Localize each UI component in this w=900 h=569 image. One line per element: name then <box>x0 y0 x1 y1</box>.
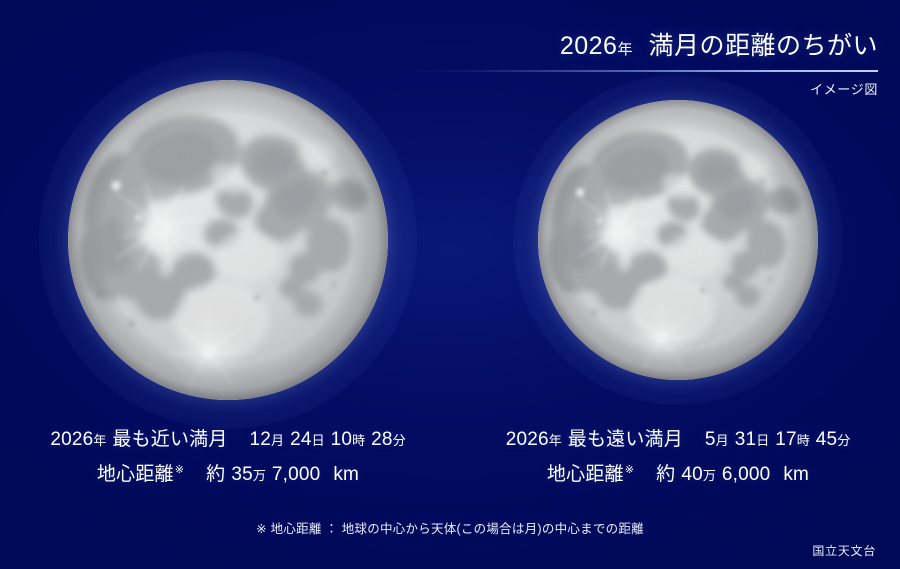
caption-far-moon: 2026年最も遠い満月5月31日17時45分 地心距離※約40万6,000km <box>478 430 878 484</box>
caption-near-day: 24 <box>290 429 312 450</box>
moon-image-near <box>68 80 388 400</box>
caption-far-month-unit: 月 <box>716 433 729 448</box>
caption-far-distance-label: 地心距離 <box>547 464 624 485</box>
caption-far-year: 2026 <box>506 429 549 450</box>
caption-far-hour-unit: 時 <box>797 433 810 448</box>
caption-far-label: 最も遠い満月 <box>568 429 683 450</box>
caption-near-distance-rest: 7,000 <box>272 464 321 485</box>
page-title: 2026年満月の距離のちがい <box>408 26 878 62</box>
moon-surface-near <box>68 80 388 400</box>
caption-far-date-line: 2026年最も遠い満月5月31日17時45分 <box>478 430 878 449</box>
credit: 国立天文台 <box>812 542 876 559</box>
title-block: 2026年満月の距離のちがい イメージ図 <box>408 26 878 98</box>
caption-near-month-unit: 月 <box>271 433 284 448</box>
caption-near-day-unit: 日 <box>312 433 325 448</box>
title-text: 満月の距離のちがい <box>648 32 878 60</box>
caption-near-minute: 28 <box>371 429 393 450</box>
caption-far-day: 31 <box>735 429 757 450</box>
caption-near-distance-unit: km <box>333 464 359 485</box>
caption-near-minute-unit: 分 <box>393 433 406 448</box>
caption-near-distance-man: 35 <box>231 464 253 485</box>
footnote-ref-mark: ※ <box>625 464 634 476</box>
caption-near-moon: 2026年最も近い満月12月24日10時28分 地心距離※約35万7,000km <box>28 430 428 484</box>
moon-disc-far <box>538 100 818 380</box>
caption-far-distance-approx: 約 <box>656 464 675 485</box>
title-year: 2026 <box>560 32 618 60</box>
caption-far-hour: 17 <box>775 429 797 450</box>
moon-image-far <box>538 100 818 380</box>
caption-near-hour-unit: 時 <box>352 433 365 448</box>
caption-near-distance-label: 地心距離 <box>97 464 174 485</box>
caption-far-minute-unit: 分 <box>837 433 850 448</box>
title-divider <box>408 70 878 72</box>
caption-far-distance-man: 40 <box>681 464 703 485</box>
caption-far-distance-unit: km <box>783 464 809 485</box>
subtitle: イメージ図 <box>408 79 878 98</box>
caption-near-distance-line: 地心距離※約35万7,000km <box>28 465 428 484</box>
caption-near-month: 12 <box>250 429 272 450</box>
caption-near-year-unit: 年 <box>93 433 106 448</box>
caption-near-year: 2026 <box>50 429 93 450</box>
caption-far-minute: 45 <box>816 429 838 450</box>
title-year-unit: 年 <box>617 41 632 58</box>
footnote-ref-mark: ※ <box>175 464 184 476</box>
caption-near-date-line: 2026年最も近い満月12月24日10時28分 <box>28 430 428 449</box>
caption-far-day-unit: 日 <box>756 433 769 448</box>
moon-surface-far <box>538 100 818 380</box>
caption-far-distance-rest: 6,000 <box>722 464 771 485</box>
caption-far-month: 5 <box>705 429 716 450</box>
caption-far-year-unit: 年 <box>549 433 562 448</box>
caption-near-distance-man-unit: 万 <box>253 468 266 483</box>
caption-far-distance-man-unit: 万 <box>703 468 716 483</box>
caption-far-distance-line: 地心距離※約40万6,000km <box>478 465 878 484</box>
moon-distance-poster: 2026年満月の距離のちがい イメージ図 <box>0 0 900 569</box>
caption-near-hour: 10 <box>331 429 353 450</box>
footnote: ※ 地心距離 ： 地球の中心から天体(この場合は月)の中心までの距離 <box>0 518 900 537</box>
caption-near-distance-approx: 約 <box>206 464 225 485</box>
caption-near-label: 最も近い満月 <box>112 429 227 450</box>
moon-disc-near <box>68 80 388 400</box>
